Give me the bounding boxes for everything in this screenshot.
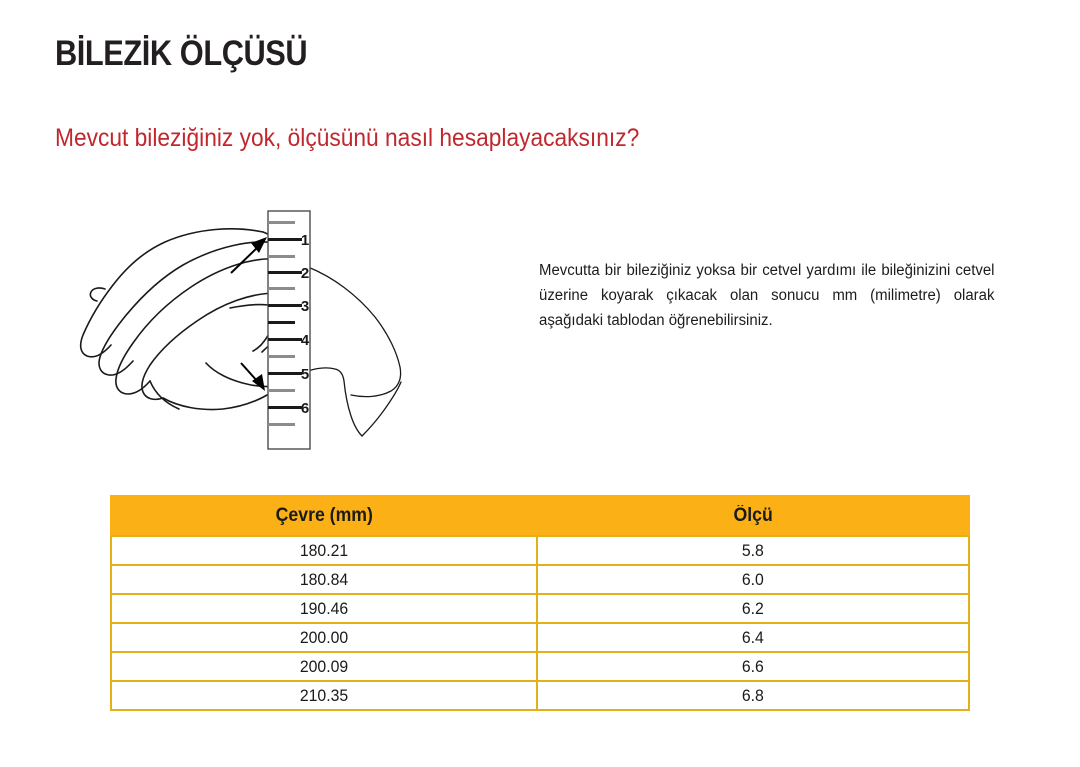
ruler-label-2: 2 bbox=[301, 265, 309, 282]
ruler-label-4: 4 bbox=[301, 332, 310, 349]
hand-ruler-svg: 1 2 3 4 5 6 bbox=[55, 195, 455, 470]
cell-circumference-value: 180.21 bbox=[300, 541, 348, 561]
cell-circumference-value: 200.00 bbox=[300, 628, 348, 648]
cell-circumference-value: 190.46 bbox=[300, 599, 348, 619]
column-header-circumference-label: Çevre (mm) bbox=[275, 505, 372, 527]
cell-circumference: 210.35 bbox=[111, 681, 537, 710]
size-table: Çevre (mm) Ölçü 180.21 5.8 180.84 6.0 19… bbox=[110, 495, 970, 711]
cell-circumference: 180.21 bbox=[111, 536, 537, 565]
cell-circumference: 180.84 bbox=[111, 565, 537, 594]
cell-circumference: 200.00 bbox=[111, 623, 537, 652]
column-header-circumference: Çevre (mm) bbox=[111, 496, 537, 536]
cell-circumference-value: 180.84 bbox=[300, 570, 348, 590]
page-subtitle: Mevcut bileziğiniz yok, ölçüsünü nasıl h… bbox=[55, 125, 639, 153]
table-row: 200.09 6.6 bbox=[111, 652, 969, 681]
hand-outline bbox=[81, 229, 281, 410]
table-body: 180.21 5.8 180.84 6.0 190.46 6.2 200.00 … bbox=[111, 536, 969, 710]
cell-size-value: 6.0 bbox=[742, 570, 764, 590]
cell-circumference: 190.46 bbox=[111, 594, 537, 623]
cell-size-value: 6.8 bbox=[742, 686, 764, 706]
cell-size-value: 6.4 bbox=[742, 628, 764, 648]
cell-size-value: 5.8 bbox=[742, 541, 764, 561]
ruler-label-6: 6 bbox=[301, 400, 309, 417]
column-header-size: Ölçü bbox=[537, 496, 969, 536]
table-row: 180.21 5.8 bbox=[111, 536, 969, 565]
cell-size: 5.8 bbox=[537, 536, 969, 565]
ruler-label-1: 1 bbox=[301, 232, 309, 249]
cell-size-value: 6.2 bbox=[742, 599, 764, 619]
table-row: 190.46 6.2 bbox=[111, 594, 969, 623]
page-title: BİLEZİK ÖLÇÜSÜ bbox=[55, 36, 307, 73]
ruler-label-3: 3 bbox=[301, 298, 309, 315]
cell-circumference: 200.09 bbox=[111, 652, 537, 681]
cell-circumference-value: 200.09 bbox=[300, 657, 348, 677]
hand-ruler-illustration: 1 2 3 4 5 6 bbox=[55, 195, 455, 470]
cell-size: 6.6 bbox=[537, 652, 969, 681]
arrow-upper-shaft bbox=[231, 245, 260, 273]
page-root: BİLEZİK ÖLÇÜSÜ Mevcut bileziğiniz yok, ö… bbox=[0, 0, 1080, 767]
cell-size: 6.4 bbox=[537, 623, 969, 652]
table-row: 180.84 6.0 bbox=[111, 565, 969, 594]
column-header-size-label: Ölçü bbox=[733, 505, 772, 527]
cell-size: 6.0 bbox=[537, 565, 969, 594]
table-header-row: Çevre (mm) Ölçü bbox=[111, 496, 969, 536]
ruler-label-5: 5 bbox=[301, 366, 309, 383]
wrist-outline bbox=[308, 267, 401, 436]
cell-size: 6.8 bbox=[537, 681, 969, 710]
info-paragraph: Mevcutta bir bileziğiniz yoksa bir cetve… bbox=[539, 258, 994, 333]
table-header: Çevre (mm) Ölçü bbox=[111, 496, 969, 536]
cell-size-value: 6.6 bbox=[742, 657, 764, 677]
table-row: 200.00 6.4 bbox=[111, 623, 969, 652]
table-row: 210.35 6.8 bbox=[111, 681, 969, 710]
cell-circumference-value: 210.35 bbox=[300, 686, 348, 706]
cell-size: 6.2 bbox=[537, 594, 969, 623]
